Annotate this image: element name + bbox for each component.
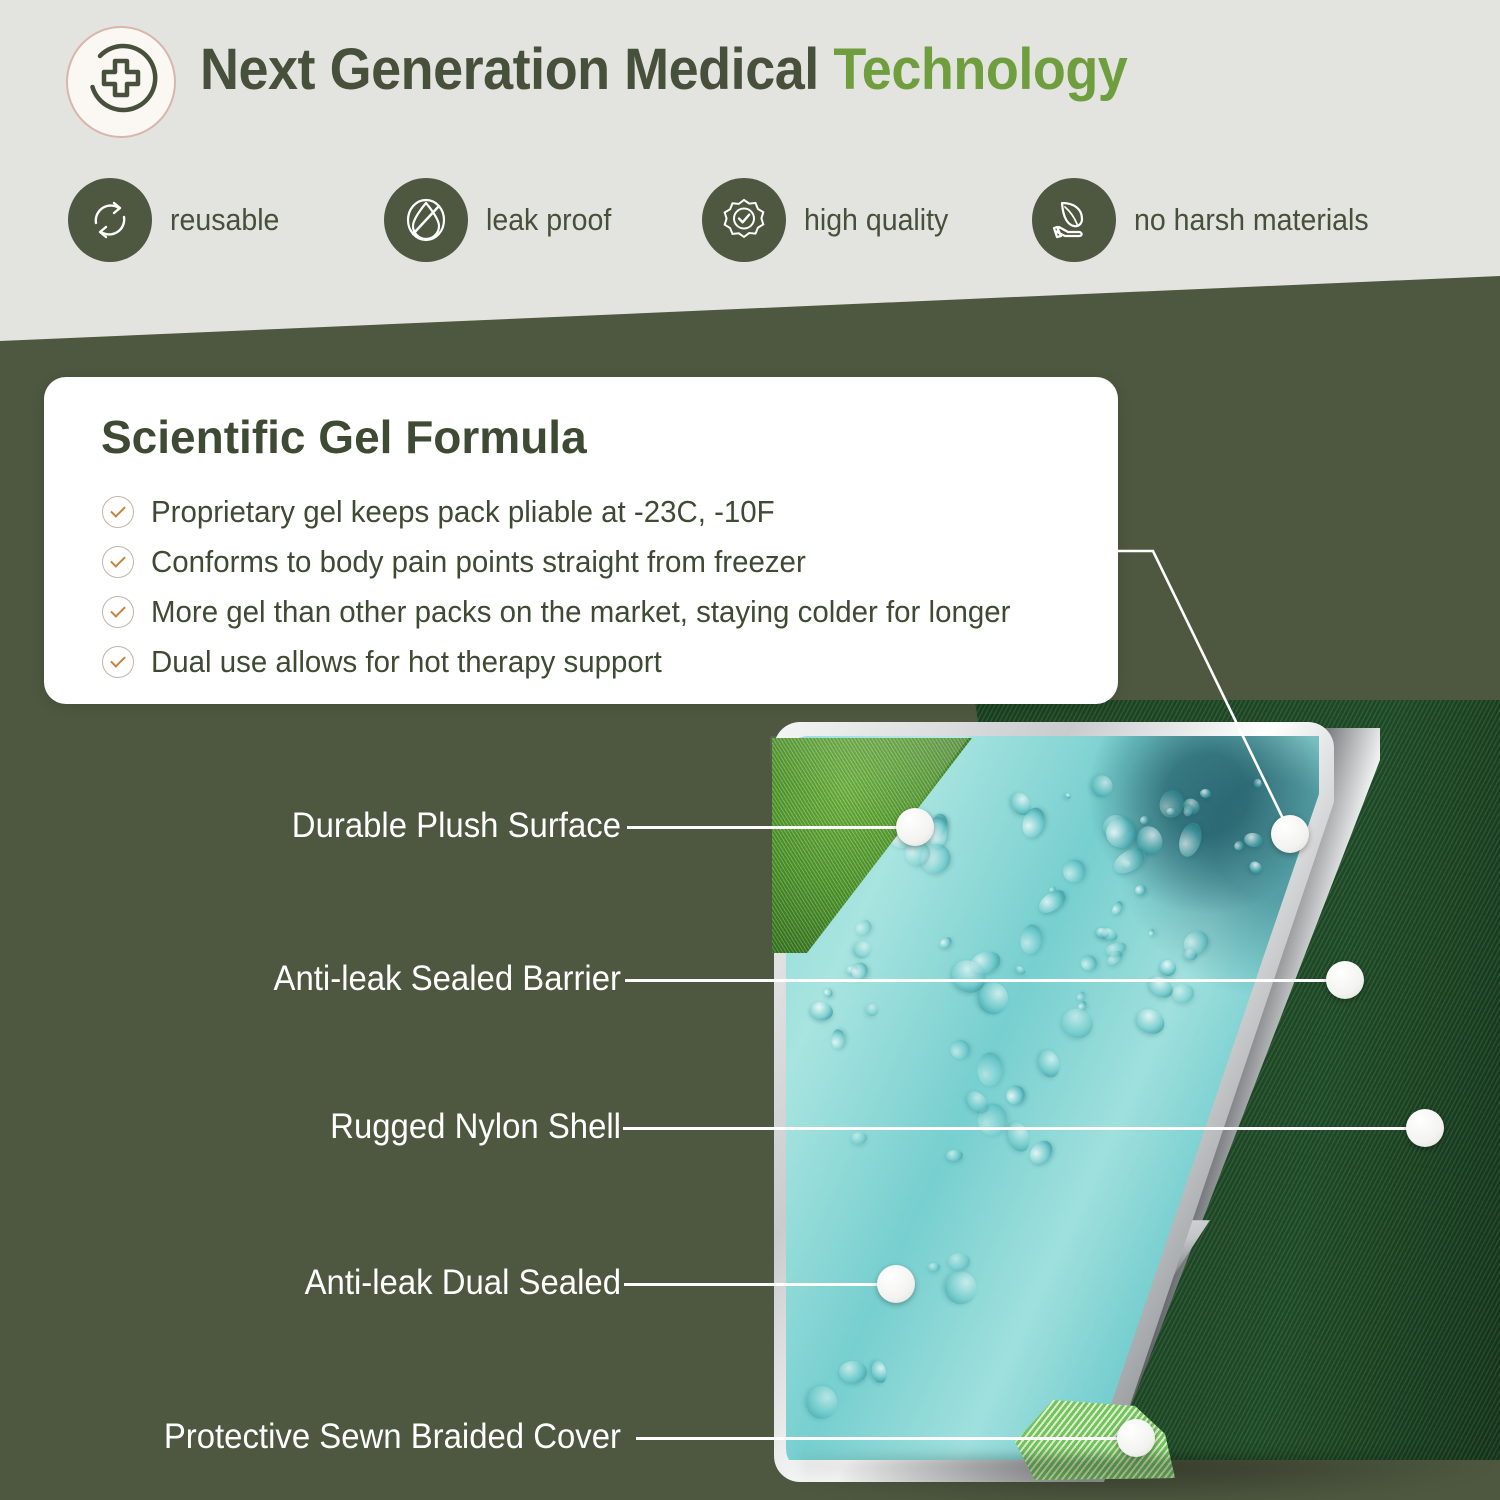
page-title-accent: Technology [833, 37, 1127, 102]
callout-label-nylon-shell: Rugged Nylon Shell [299, 1107, 621, 1147]
gel-formula-card: Scientific Gel Formula Proprietary gel k… [44, 377, 1118, 704]
gel-bubble [978, 982, 1009, 1015]
list-item: Proprietary gel keeps pack pliable at -2… [102, 487, 1112, 537]
gel-bubble [1064, 793, 1071, 800]
gel-bubble [946, 1150, 963, 1162]
gel-bubble [1104, 940, 1128, 958]
gel-bubble [1058, 1004, 1099, 1043]
feature-badge-row: reusable leak proof [68, 178, 1458, 274]
gel-bubble [839, 1361, 867, 1383]
gel-bubble [949, 1038, 972, 1060]
feature-leak-proof: leak proof [384, 178, 622, 262]
recycle-arrows-icon [68, 178, 152, 262]
callout-label-plush-surface: Durable Plush Surface [245, 806, 621, 846]
gel-bubble [1079, 953, 1099, 972]
gel-bubble [938, 935, 954, 950]
bullet-list: Proprietary gel keeps pack pliable at -2… [102, 487, 1112, 687]
gel-bubble [1035, 1048, 1062, 1081]
gel-bubble [1200, 788, 1212, 799]
card-title: Scientific Gel Formula [101, 410, 587, 464]
gel-bubble [851, 939, 874, 962]
bullet-text: Proprietary gel keeps pack pliable at -2… [151, 494, 775, 530]
gel-bubble [805, 1386, 837, 1420]
gel-bubble [851, 1132, 867, 1144]
gel-bubble [808, 1000, 834, 1022]
bullet-text: Dual use allows for hot therapy support [151, 644, 662, 680]
callout-label-sealed-barrier: Anti-leak Sealed Barrier [214, 959, 621, 999]
gel-bubble [976, 1053, 1002, 1087]
feature-no-harsh-materials: no harsh materials [1032, 178, 1389, 262]
feature-high-quality: high quality [702, 178, 961, 262]
gel-bubble [1246, 859, 1263, 876]
check-circle-icon [102, 546, 134, 578]
check-circle-icon [102, 646, 134, 678]
feature-label: leak proof [486, 202, 611, 238]
check-circle-icon [102, 496, 134, 528]
gel-bubble [943, 1269, 978, 1306]
gel-bubble [1004, 1119, 1033, 1155]
header-band: Next Generation Medical Technology reusa… [0, 0, 1500, 345]
callout-label-dual-sealed: Anti-leak Dual Sealed [259, 1263, 621, 1303]
list-item: More gel than other packs on the market,… [102, 587, 1112, 637]
page-title: Next Generation Medical Technology [200, 36, 1127, 103]
gel-bubble [1175, 820, 1206, 860]
bullet-text: More gel than other packs on the market,… [151, 594, 1010, 630]
gel-bubble [1253, 779, 1262, 788]
gel-bubble [1133, 883, 1147, 897]
feature-label: no harsh materials [1134, 202, 1369, 238]
feature-reusable: reusable [68, 178, 289, 262]
infographic-canvas: Next Generation Medical Technology reusa… [0, 0, 1500, 1500]
feature-label: reusable [170, 202, 279, 238]
gel-bubble [1133, 1005, 1169, 1039]
gel-bubble [830, 1029, 844, 1049]
list-item: Dual use allows for hot therapy support [102, 637, 1112, 687]
gel-bubble [1100, 925, 1120, 943]
quality-badge-check-icon [702, 178, 786, 262]
gel-bubble [870, 1360, 888, 1385]
gel-bubble [1138, 814, 1150, 825]
gel-bubble [1166, 807, 1176, 814]
gel-bubble [1003, 1082, 1028, 1107]
gel-bubble [853, 917, 875, 938]
product-shadow [800, 1456, 1500, 1500]
medical-cross-circle-icon [66, 26, 176, 138]
gel-bubble [1018, 922, 1043, 955]
gel-bubble [1025, 1137, 1056, 1169]
gel-bubble [1014, 964, 1027, 975]
gel-bubble [1158, 958, 1179, 978]
gel-bubble [1090, 774, 1114, 799]
page-title-primary: Next Generation Medical [200, 37, 833, 102]
gel-bubble [1148, 929, 1155, 938]
check-circle-icon [102, 596, 134, 628]
gel-bubble [947, 1253, 969, 1270]
gel-bubble [1157, 788, 1187, 821]
feature-label: high quality [804, 202, 948, 238]
hand-holding-leaf-icon [1032, 178, 1116, 262]
gel-bubble [928, 1263, 940, 1271]
gel-bubble [822, 987, 834, 999]
gel-bubble [1243, 831, 1264, 848]
list-item: Conforms to body pain points straight fr… [102, 537, 1112, 587]
bullet-text: Conforms to body pain points straight fr… [151, 544, 806, 580]
product-cutaway-image [760, 700, 1500, 1500]
gel-bubble [1110, 900, 1125, 917]
water-drop-no-leak-icon [384, 178, 468, 262]
callout-label-braided-cover: Protective Sewn Braided Cover [111, 1417, 621, 1457]
gel-bubble [848, 960, 871, 983]
gel-bubble [1170, 982, 1195, 1005]
gel-bubble [1061, 858, 1088, 885]
gel-bubble [864, 1001, 881, 1018]
